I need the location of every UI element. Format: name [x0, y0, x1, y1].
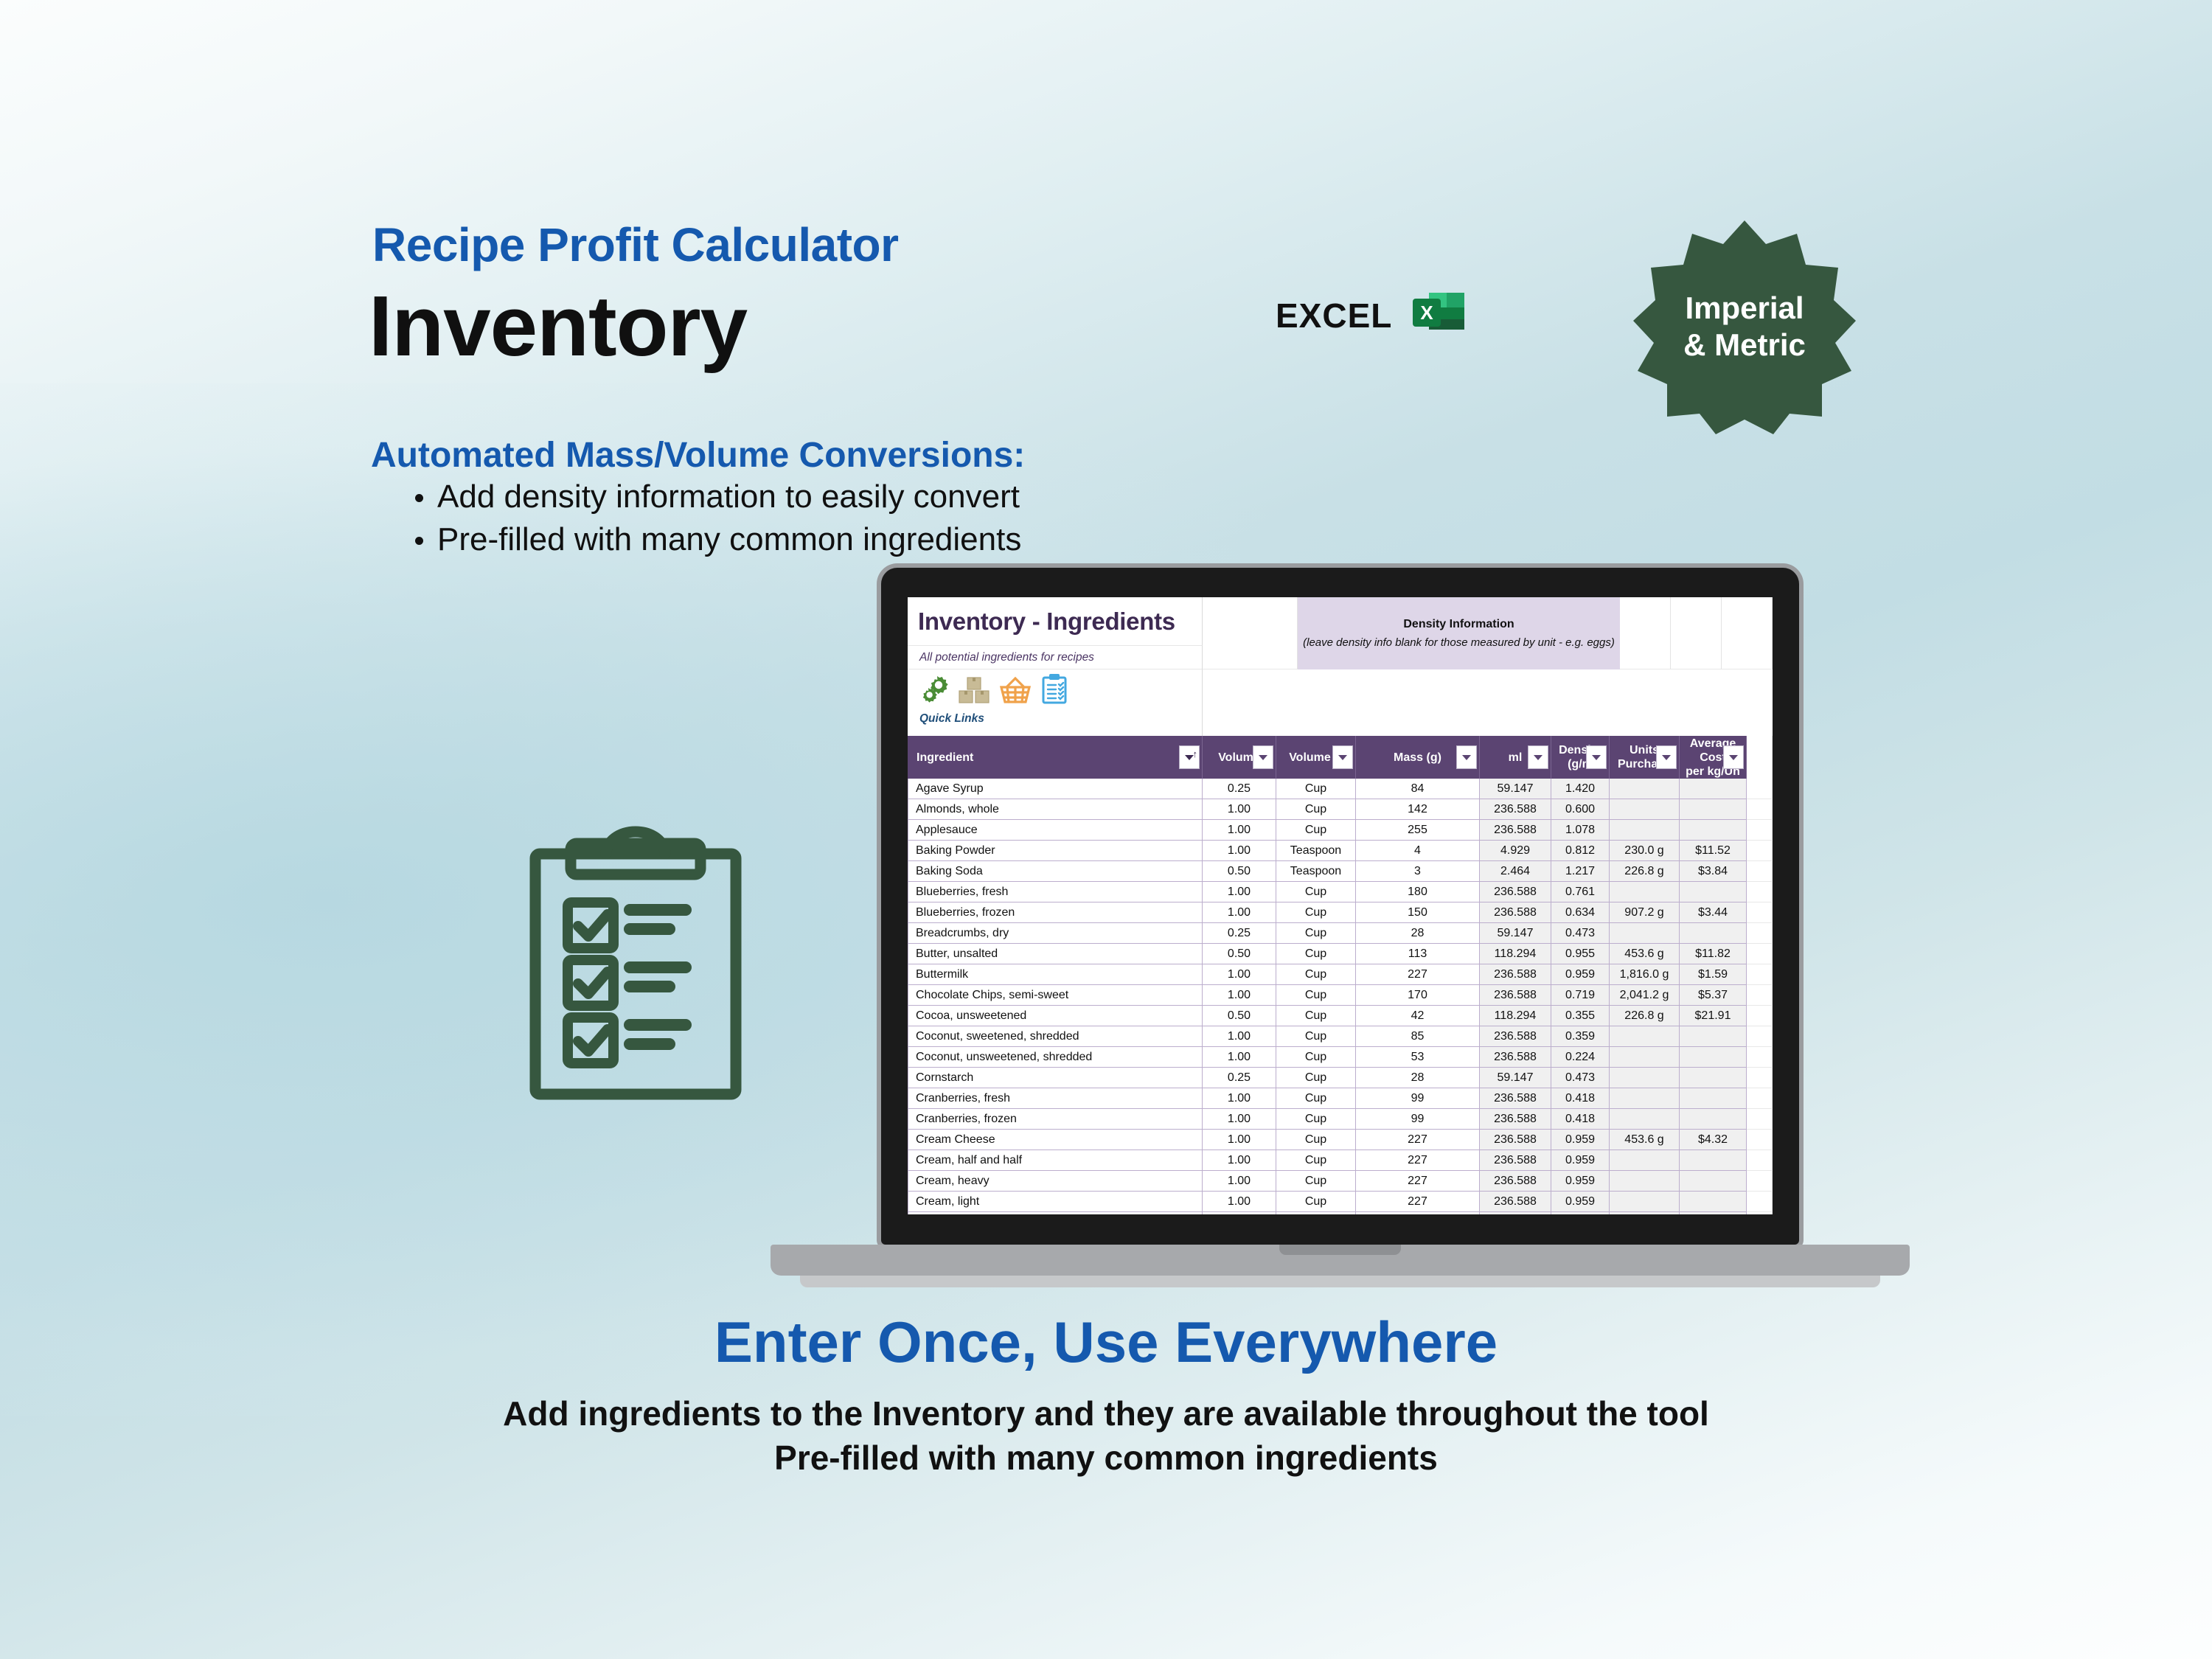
table-cell-volume[interactable]: 1.00 [1203, 964, 1276, 985]
table-cell-mass[interactable]: 4 [1356, 841, 1480, 861]
table-cell-ml[interactable]: 236.588 [1480, 1088, 1551, 1109]
table-cell-avg-cost[interactable]: $3.84 [1680, 861, 1747, 882]
table-cell-ml[interactable]: 236.588 [1480, 1047, 1551, 1068]
table-row-tail-cell [1747, 1047, 1773, 1068]
table-cell-units-purchased[interactable] [1610, 799, 1680, 820]
table-cell-ingredient[interactable]: Cream, light [908, 1192, 1203, 1212]
table-row[interactable]: Breadcrumbs, dry0.25Cup2859.1470.473 [908, 923, 1773, 944]
table-cell-volume[interactable]: 1.00 [1203, 820, 1276, 841]
table-cell-density[interactable]: 0.600 [1551, 799, 1610, 820]
table-row-tail-cell [1747, 1006, 1773, 1026]
table-cell-volume[interactable]: 1.00 [1203, 1150, 1276, 1171]
table-row-tail-cell [1747, 1088, 1773, 1109]
table-cell-mass[interactable]: 227 [1356, 1171, 1480, 1192]
table-cell-volume[interactable]: 1.00 [1203, 985, 1276, 1006]
sheet-header-zone: Inventory - Ingredients All potential in… [908, 597, 1773, 736]
filter-button-density[interactable] [1586, 745, 1607, 769]
table-cell-ingredient[interactable]: Blueberries, fresh [908, 882, 1203, 902]
blank-cell [1620, 597, 1671, 669]
table-cell-unit[interactable]: Cup [1276, 944, 1356, 964]
table-cell-ml[interactable]: 236.588 [1480, 1130, 1551, 1150]
table-cell-mass[interactable]: 28 [1356, 923, 1480, 944]
table-cell-ml[interactable]: 59.147 [1480, 923, 1551, 944]
table-row-tail-cell [1747, 1171, 1773, 1192]
table-cell-density[interactable]: 0.473 [1551, 1068, 1610, 1088]
table-row-tail-cell [1747, 882, 1773, 902]
sort-ascending-icon: ↑ [1193, 749, 1198, 759]
table-row[interactable]: Baking Powder1.00Teaspoon44.9290.812230.… [908, 841, 1773, 861]
quick-links-block: Quick Links [908, 669, 1203, 736]
page-title: Inventory [369, 276, 747, 375]
blank-cell [1671, 597, 1722, 669]
table-cell-mass[interactable]: 113 [1356, 944, 1480, 964]
table-cell-units-purchased[interactable]: 453.6 g [1610, 944, 1680, 964]
cta-line-1: Add ingredients to the Inventory and the… [0, 1394, 2212, 1433]
table-cell-density[interactable]: 0.959 [1551, 964, 1610, 985]
table-row[interactable]: Baking Soda0.50Teaspoon32.4641.217226.8 … [908, 861, 1773, 882]
table-cell-unit[interactable]: Cup [1276, 1171, 1356, 1192]
table-cell-ingredient[interactable]: Chocolate Chips, semi-sweet [908, 985, 1203, 1006]
table-cell-ingredient[interactable]: Breadcrumbs, dry [908, 923, 1203, 944]
table-row[interactable]: Blueberries, fresh1.00Cup180236.5880.761 [908, 882, 1773, 902]
product-kicker: Recipe Profit Calculator [372, 218, 899, 272]
table-cell-units-purchased[interactable]: 230.0 g [1610, 841, 1680, 861]
table-cell-mass[interactable]: 227 [1356, 1192, 1480, 1212]
table-cell-unit[interactable]: Cup [1276, 1068, 1356, 1088]
table-cell-mass[interactable]: 99 [1356, 1088, 1480, 1109]
laptop-screen: Inventory - Ingredients All potential in… [908, 597, 1773, 1214]
table-cell-unit[interactable]: Cup [1276, 1109, 1356, 1130]
table-cell-volume[interactable]: 1.00 [1203, 799, 1276, 820]
table-cell-unit[interactable]: Cup [1276, 779, 1356, 799]
excel-label: EXCEL [1276, 296, 1392, 335]
column-header-mass[interactable]: Mass (g) [1356, 736, 1480, 779]
table-cell-ml[interactable]: 236.588 [1480, 1150, 1551, 1171]
excel-icon: X [1411, 291, 1466, 340]
table-cell-volume[interactable]: 1.00 [1203, 902, 1276, 923]
table-cell-mass[interactable]: 85 [1356, 1026, 1480, 1047]
table-cell-avg-cost[interactable] [1680, 1088, 1747, 1109]
table-cell-units-purchased[interactable]: 2,041.2 g [1610, 985, 1680, 1006]
table-cell-ml[interactable]: 118.294 [1480, 944, 1551, 964]
table-cell-units-purchased[interactable] [1610, 1109, 1680, 1130]
table-cell-ingredient[interactable]: Butter, unsalted [908, 944, 1203, 964]
promo-graphic: Recipe Profit Calculator Inventory Autom… [0, 0, 2212, 1659]
table-cell-mass[interactable]: 227 [1356, 1130, 1480, 1150]
list-item: Add density information to easily conver… [437, 476, 1021, 518]
filter-button-volume-unit[interactable] [1332, 745, 1353, 769]
table-row-tail-cell [1747, 902, 1773, 923]
table-row-tail-cell [1747, 1068, 1773, 1088]
table-cell-ml[interactable]: 236.588 [1480, 1109, 1551, 1130]
table-cell-units-purchased[interactable] [1610, 1171, 1680, 1192]
table-row[interactable]: Cream, half and half1.00Cup227236.5880.9… [908, 1150, 1773, 1171]
svg-text:X: X [1421, 302, 1434, 324]
basket-icon[interactable] [999, 676, 1032, 708]
table-cell-ml[interactable]: 4.929 [1480, 841, 1551, 861]
table-cell-avg-cost[interactable]: $3.44 [1680, 902, 1747, 923]
table-cell-avg-cost[interactable] [1680, 1192, 1747, 1212]
table-cell-density[interactable]: 0.600 [1551, 1212, 1610, 1214]
table-row[interactable]: Cream Cheese1.00Cup227236.5880.959453.6 … [908, 1130, 1773, 1150]
table-cell-mass[interactable]: 255 [1356, 820, 1480, 841]
density-banner: Density Information (leave density info … [1298, 597, 1620, 669]
spreadsheet: Inventory - Ingredients All potential in… [908, 597, 1773, 1214]
table-cell-ml[interactable]: 2.464 [1480, 861, 1551, 882]
table-row[interactable]: Cocoa, unsweetened0.50Cup42118.2940.3552… [908, 1006, 1773, 1026]
table-row-tail-cell [1747, 923, 1773, 944]
table-cell-avg-cost[interactable]: $11.52 [1680, 841, 1747, 861]
filter-button-ml[interactable] [1528, 745, 1548, 769]
table-cell-density[interactable]: 1.420 [1551, 779, 1610, 799]
table-row-tail-cell [1747, 1109, 1773, 1130]
table-row-tail-cell [1747, 841, 1773, 861]
cta-headline: Enter Once, Use Everywhere [0, 1309, 2212, 1376]
header-tail-cell [1747, 736, 1773, 779]
table-cell-mass[interactable]: 84 [1356, 779, 1480, 799]
list-item: Pre-filled with many common ingredients [437, 518, 1021, 561]
table-cell-mass[interactable]: 28 [1356, 1068, 1480, 1088]
table-cell-density[interactable]: 0.959 [1551, 1171, 1610, 1192]
table-cell-mass[interactable]: 99 [1356, 1109, 1480, 1130]
table-cell-ingredient[interactable]: Coconut, sweetened, shredded [908, 1026, 1203, 1047]
table-cell-ingredient[interactable]: Cream, half and half [908, 1150, 1203, 1171]
table-cell-units-purchased[interactable] [1610, 1088, 1680, 1109]
table-cell-units-purchased[interactable] [1610, 1212, 1680, 1214]
table-cell-units-purchased[interactable]: 453.6 g [1610, 1130, 1680, 1150]
table-cell-ingredient[interactable]: Applesauce [908, 820, 1203, 841]
table-cell-ingredient[interactable]: Blueberries, frozen [908, 902, 1203, 923]
table-cell-ingredient[interactable]: Cocoa, unsweetened [908, 1006, 1203, 1026]
table-row[interactable]: Cranberries, frozen1.00Cup99236.5880.418 [908, 1109, 1773, 1130]
filter-button-average-cost[interactable] [1723, 745, 1744, 769]
density-banner-row: Density Information (leave density info … [1203, 597, 1773, 669]
blank-cell [1203, 597, 1298, 669]
table-cell-ml[interactable]: 236.588 [1480, 985, 1551, 1006]
chevron-down-icon [1534, 755, 1543, 760]
table-row-tail-cell [1747, 1192, 1773, 1212]
table-cell-avg-cost[interactable] [1680, 820, 1747, 841]
table-cell-ingredient[interactable]: Cream Cheese [908, 1130, 1203, 1150]
table-cell-ingredient[interactable]: Almonds, whole [908, 799, 1203, 820]
table-cell-volume[interactable]: 1.00 [1203, 1171, 1276, 1192]
laptop-foot [800, 1276, 1880, 1287]
table-cell-ml[interactable]: 118.294 [1480, 1006, 1551, 1026]
table-cell-density[interactable]: 1.078 [1551, 820, 1610, 841]
imperial-metric-badge: Imperial & Metric [1633, 219, 1856, 434]
table-cell-ml[interactable]: 236.588 [1480, 964, 1551, 985]
table-cell-avg-cost[interactable] [1680, 1026, 1747, 1047]
table-row[interactable]: Coconut, unsweetened, shredded1.00Cup532… [908, 1047, 1773, 1068]
table-cell-volume[interactable]: 0.25 [1203, 923, 1276, 944]
column-header-ingredient[interactable]: Ingredient ↑ [908, 736, 1203, 779]
table-cell-volume[interactable]: 1.00 [1203, 1192, 1276, 1212]
table-cell-units-purchased[interactable] [1610, 1068, 1680, 1088]
table-cell-density[interactable]: 0.959 [1551, 1192, 1610, 1212]
sheet-title: Inventory - Ingredients [908, 597, 1203, 646]
table-cell-units-purchased[interactable] [1610, 1150, 1680, 1171]
sort-filter-button-ingredient[interactable]: ↑ [1179, 745, 1200, 769]
table-cell-unit[interactable]: Cup [1276, 964, 1356, 985]
table-cell-ingredient[interactable]: Cornstarch [908, 1068, 1203, 1088]
chevron-down-icon [1462, 755, 1471, 760]
table-header-row: Ingredient ↑ Volume Volume U [908, 736, 1773, 779]
table-cell-density[interactable]: 0.761 [1551, 882, 1610, 902]
table-row[interactable]: Cream, light1.00Cup227236.5880.959 [908, 1192, 1773, 1212]
table-cell-unit[interactable]: Cup [1276, 902, 1356, 923]
table-body: Agave Syrup0.25Cup8459.1471.420Almonds, … [908, 779, 1773, 1214]
table-cell-ingredient[interactable]: Currants [908, 1212, 1203, 1214]
feature-bullet-list: Add density information to easily conver… [402, 476, 1021, 561]
table-cell-avg-cost[interactable] [1680, 1212, 1747, 1214]
blank-cell [1722, 597, 1773, 669]
laptop-notch [1279, 1245, 1401, 1255]
table-cell-volume[interactable]: 1.00 [1203, 882, 1276, 902]
quick-links-label: Quick Links [919, 712, 1202, 726]
table-cell-avg-cost[interactable] [1680, 1109, 1747, 1130]
starburst-line-1: Imperial [1685, 290, 1804, 327]
table-row-tail-cell [1747, 799, 1773, 820]
table-row-tail-cell [1747, 779, 1773, 799]
table-cell-avg-cost[interactable] [1680, 1047, 1747, 1068]
table-cell-mass[interactable]: 3 [1356, 861, 1480, 882]
table-cell-density[interactable]: 0.473 [1551, 923, 1610, 944]
table-row-tail-cell [1747, 1150, 1773, 1171]
table-row[interactable]: Buttermilk1.00Cup227236.5880.9591,816.0 … [908, 964, 1773, 985]
table-cell-volume[interactable]: 1.00 [1203, 1026, 1276, 1047]
column-header-label: Ingredient [917, 751, 973, 765]
column-header-density[interactable]: Density (g/m [1551, 736, 1610, 779]
table-row-tail-cell [1747, 964, 1773, 985]
table-cell-units-purchased[interactable]: 226.8 g [1610, 1006, 1680, 1026]
chevron-down-icon [1662, 755, 1671, 760]
table-row[interactable]: Almonds, whole1.00Cup142236.5880.600 [908, 799, 1773, 820]
density-banner-title: Density Information [1403, 618, 1514, 631]
table-cell-avg-cost[interactable] [1680, 882, 1747, 902]
table-cell-density[interactable]: 0.359 [1551, 1026, 1610, 1047]
table-cell-density[interactable]: 0.355 [1551, 1006, 1610, 1026]
table-cell-avg-cost[interactable] [1680, 1068, 1747, 1088]
table-cell-volume[interactable]: 1.00 [1203, 1109, 1276, 1130]
table-cell-density[interactable]: 0.418 [1551, 1109, 1610, 1130]
table-cell-ml[interactable]: 236.588 [1480, 882, 1551, 902]
table-cell-ml[interactable]: 236.588 [1480, 902, 1551, 923]
gears-icon[interactable] [919, 675, 949, 708]
table-cell-units-purchased[interactable] [1610, 882, 1680, 902]
starburst-line-2: & Metric [1683, 327, 1806, 364]
column-header-label: ml [1509, 751, 1523, 765]
feature-subheading: Automated Mass/Volume Conversions: [371, 435, 1025, 476]
table-cell-units-purchased[interactable] [1610, 779, 1680, 799]
table-cell-ingredient[interactable]: Baking Soda [908, 861, 1203, 882]
table-cell-units-purchased[interactable] [1610, 1026, 1680, 1047]
table-cell-ml[interactable]: 236.588 [1480, 1212, 1551, 1214]
table-cell-volume[interactable]: 0.50 [1203, 861, 1276, 882]
table-cell-units-purchased[interactable]: 1,816.0 g [1610, 964, 1680, 985]
table-cell-avg-cost[interactable]: $21.91 [1680, 1006, 1747, 1026]
table-cell-ml[interactable]: 236.588 [1480, 1026, 1551, 1047]
column-header-volume-unit[interactable]: Volume U [1276, 736, 1356, 779]
density-banner-zone: Density Information (leave density info … [1203, 597, 1773, 736]
table-cell-density[interactable]: 0.418 [1551, 1088, 1610, 1109]
table-row[interactable]: Cranberries, fresh1.00Cup99236.5880.418 [908, 1088, 1773, 1109]
table-cell-ml[interactable]: 236.588 [1480, 820, 1551, 841]
chevron-down-icon [1592, 755, 1601, 760]
table-cell-mass[interactable]: 180 [1356, 882, 1480, 902]
table-cell-volume[interactable]: 0.50 [1203, 944, 1276, 964]
table-cell-volume[interactable]: 1.00 [1203, 1212, 1276, 1214]
table-row[interactable]: Blueberries, frozen1.00Cup150236.5880.63… [908, 902, 1773, 923]
column-header-volume[interactable]: Volume [1203, 736, 1276, 779]
density-banner-note: (leave density info blank for those meas… [1303, 636, 1615, 649]
table-cell-density[interactable]: 0.959 [1551, 1150, 1610, 1171]
table-cell-unit[interactable]: Cup [1276, 1088, 1356, 1109]
table-cell-ingredient[interactable]: Buttermilk [908, 964, 1203, 985]
table-cell-density[interactable]: 0.719 [1551, 985, 1610, 1006]
table-row[interactable]: Agave Syrup0.25Cup8459.1471.420 [908, 779, 1773, 799]
table-cell-unit[interactable]: Cup [1276, 799, 1356, 820]
table-row[interactable]: Cream, heavy1.00Cup227236.5880.959 [908, 1171, 1773, 1192]
table-row-tail-cell [1747, 1212, 1773, 1214]
table-row-tail-cell [1747, 944, 1773, 964]
table-cell-ml[interactable]: 236.588 [1480, 1171, 1551, 1192]
table-cell-mass[interactable]: 227 [1356, 1150, 1480, 1171]
table-cell-ingredient[interactable]: Coconut, unsweetened, shredded [908, 1047, 1203, 1068]
table-cell-mass[interactable]: 53 [1356, 1047, 1480, 1068]
table-row[interactable]: Butter, unsalted0.50Cup113118.2940.95545… [908, 944, 1773, 964]
table-cell-avg-cost[interactable] [1680, 1171, 1747, 1192]
table-cell-ingredient[interactable]: Baking Powder [908, 841, 1203, 861]
table-cell-mass[interactable]: 227 [1356, 964, 1480, 985]
boxes-icon[interactable] [959, 676, 990, 708]
table-cell-avg-cost[interactable] [1680, 779, 1747, 799]
excel-badge: EXCEL X [1276, 291, 1466, 340]
table-cell-ml[interactable]: 59.147 [1480, 1068, 1551, 1088]
table-cell-avg-cost[interactable]: $1.59 [1680, 964, 1747, 985]
table-cell-avg-cost[interactable] [1680, 923, 1747, 944]
table-cell-density[interactable]: 1.217 [1551, 861, 1610, 882]
table-cell-unit[interactable]: Cup [1276, 882, 1356, 902]
table-cell-volume[interactable]: 1.00 [1203, 1047, 1276, 1068]
table-cell-ml[interactable]: 236.588 [1480, 1192, 1551, 1212]
table-cell-mass[interactable]: 142 [1356, 1212, 1480, 1214]
table-cell-unit[interactable]: Cup [1276, 1047, 1356, 1068]
table-cell-units-purchased[interactable] [1610, 820, 1680, 841]
table-row[interactable]: Currants1.00Cup142236.5880.600 [908, 1212, 1773, 1214]
table-cell-unit[interactable]: Cup [1276, 1192, 1356, 1212]
table-cell-unit[interactable]: Cup [1276, 1006, 1356, 1026]
table-cell-volume[interactable]: 1.00 [1203, 1088, 1276, 1109]
column-header-ml[interactable]: ml [1480, 736, 1551, 779]
table-cell-mass[interactable]: 150 [1356, 902, 1480, 923]
filter-button-units-purchased[interactable] [1656, 745, 1677, 769]
table-row[interactable]: Cornstarch0.25Cup2859.1470.473 [908, 1068, 1773, 1088]
table-row[interactable]: Coconut, sweetened, shredded1.00Cup85236… [908, 1026, 1773, 1047]
table-cell-density[interactable]: 0.224 [1551, 1047, 1610, 1068]
laptop-lid: Inventory - Ingredients All potential in… [881, 568, 1799, 1245]
table-cell-unit[interactable]: Cup [1276, 820, 1356, 841]
table-row-tail-cell [1747, 820, 1773, 841]
table-cell-mass[interactable]: 142 [1356, 799, 1480, 820]
cta-line-2: Pre-filled with many common ingredients [0, 1438, 2212, 1478]
chevron-down-icon [1729, 755, 1738, 760]
column-header-average-cost[interactable]: Average Cost per kg/Un [1680, 736, 1747, 779]
table-cell-volume[interactable]: 0.50 [1203, 1006, 1276, 1026]
filter-button-mass[interactable] [1456, 745, 1477, 769]
table-cell-volume[interactable]: 0.25 [1203, 1068, 1276, 1088]
table-cell-volume[interactable]: 0.25 [1203, 779, 1276, 799]
table-cell-unit[interactable]: Teaspoon [1276, 841, 1356, 861]
table-cell-avg-cost[interactable] [1680, 1150, 1747, 1171]
quick-links-icons [919, 675, 1202, 708]
table-cell-unit[interactable]: Cup [1276, 1150, 1356, 1171]
blank-cells [1620, 597, 1773, 669]
table-row-tail-cell [1747, 861, 1773, 882]
table-cell-density[interactable]: 0.959 [1551, 1130, 1610, 1150]
table-cell-volume[interactable]: 1.00 [1203, 1130, 1276, 1150]
table-cell-unit[interactable]: Cup [1276, 985, 1356, 1006]
table-cell-unit[interactable]: Cup [1276, 1130, 1356, 1150]
table-cell-density[interactable]: 0.634 [1551, 902, 1610, 923]
table-cell-units-purchased[interactable] [1610, 1047, 1680, 1068]
table-row-tail-cell [1747, 985, 1773, 1006]
column-header-units-purchased[interactable]: Units Purchase [1610, 736, 1680, 779]
table-cell-avg-cost[interactable]: $5.37 [1680, 985, 1747, 1006]
sheet-title-block: Inventory - Ingredients All potential in… [908, 597, 1203, 736]
table-cell-ingredient[interactable]: Cranberries, frozen [908, 1109, 1203, 1130]
table-row-tail-cell [1747, 1026, 1773, 1047]
table-cell-avg-cost[interactable]: $4.32 [1680, 1130, 1747, 1150]
clipboard-checklist-icon [525, 824, 746, 1105]
starburst-text: Imperial & Metric [1633, 219, 1856, 434]
filter-button-volume[interactable] [1253, 745, 1273, 769]
sheet-subtitle: All potential ingredients for recipes [908, 646, 1203, 669]
checklist-icon[interactable] [1041, 673, 1068, 708]
table-cell-units-purchased[interactable] [1610, 923, 1680, 944]
table-cell-ml[interactable]: 236.588 [1480, 799, 1551, 820]
table-cell-units-purchased[interactable]: 907.2 g [1610, 902, 1680, 923]
table-cell-ml[interactable]: 59.147 [1480, 779, 1551, 799]
table-cell-units-purchased[interactable]: 226.8 g [1610, 861, 1680, 882]
table-cell-density[interactable]: 0.955 [1551, 944, 1610, 964]
table-cell-mass[interactable]: 170 [1356, 985, 1480, 1006]
table-row[interactable]: Chocolate Chips, semi-sweet1.00Cup170236… [908, 985, 1773, 1006]
table-cell-ingredient[interactable]: Cream, heavy [908, 1171, 1203, 1192]
column-header-label: Mass (g) [1394, 751, 1441, 765]
table-cell-ingredient[interactable]: Agave Syrup [908, 779, 1203, 799]
table-cell-mass[interactable]: 42 [1356, 1006, 1480, 1026]
chevron-down-icon [1259, 755, 1267, 760]
table-row[interactable]: Applesauce1.00Cup255236.5881.078 [908, 820, 1773, 841]
table-cell-unit[interactable]: Cup [1276, 1212, 1356, 1214]
table-cell-avg-cost[interactable]: $11.82 [1680, 944, 1747, 964]
table-cell-volume[interactable]: 1.00 [1203, 841, 1276, 861]
table-cell-ingredient[interactable]: Cranberries, fresh [908, 1088, 1203, 1109]
table-cell-units-purchased[interactable] [1610, 1192, 1680, 1212]
table-cell-unit[interactable]: Teaspoon [1276, 861, 1356, 882]
chevron-down-icon [1338, 755, 1347, 760]
table-cell-unit[interactable]: Cup [1276, 923, 1356, 944]
laptop-mockup: Inventory - Ingredients All potential in… [771, 568, 1910, 1371]
table-row-tail-cell [1747, 1130, 1773, 1150]
table-cell-unit[interactable]: Cup [1276, 1026, 1356, 1047]
table-cell-density[interactable]: 0.812 [1551, 841, 1610, 861]
table-cell-avg-cost[interactable] [1680, 799, 1747, 820]
